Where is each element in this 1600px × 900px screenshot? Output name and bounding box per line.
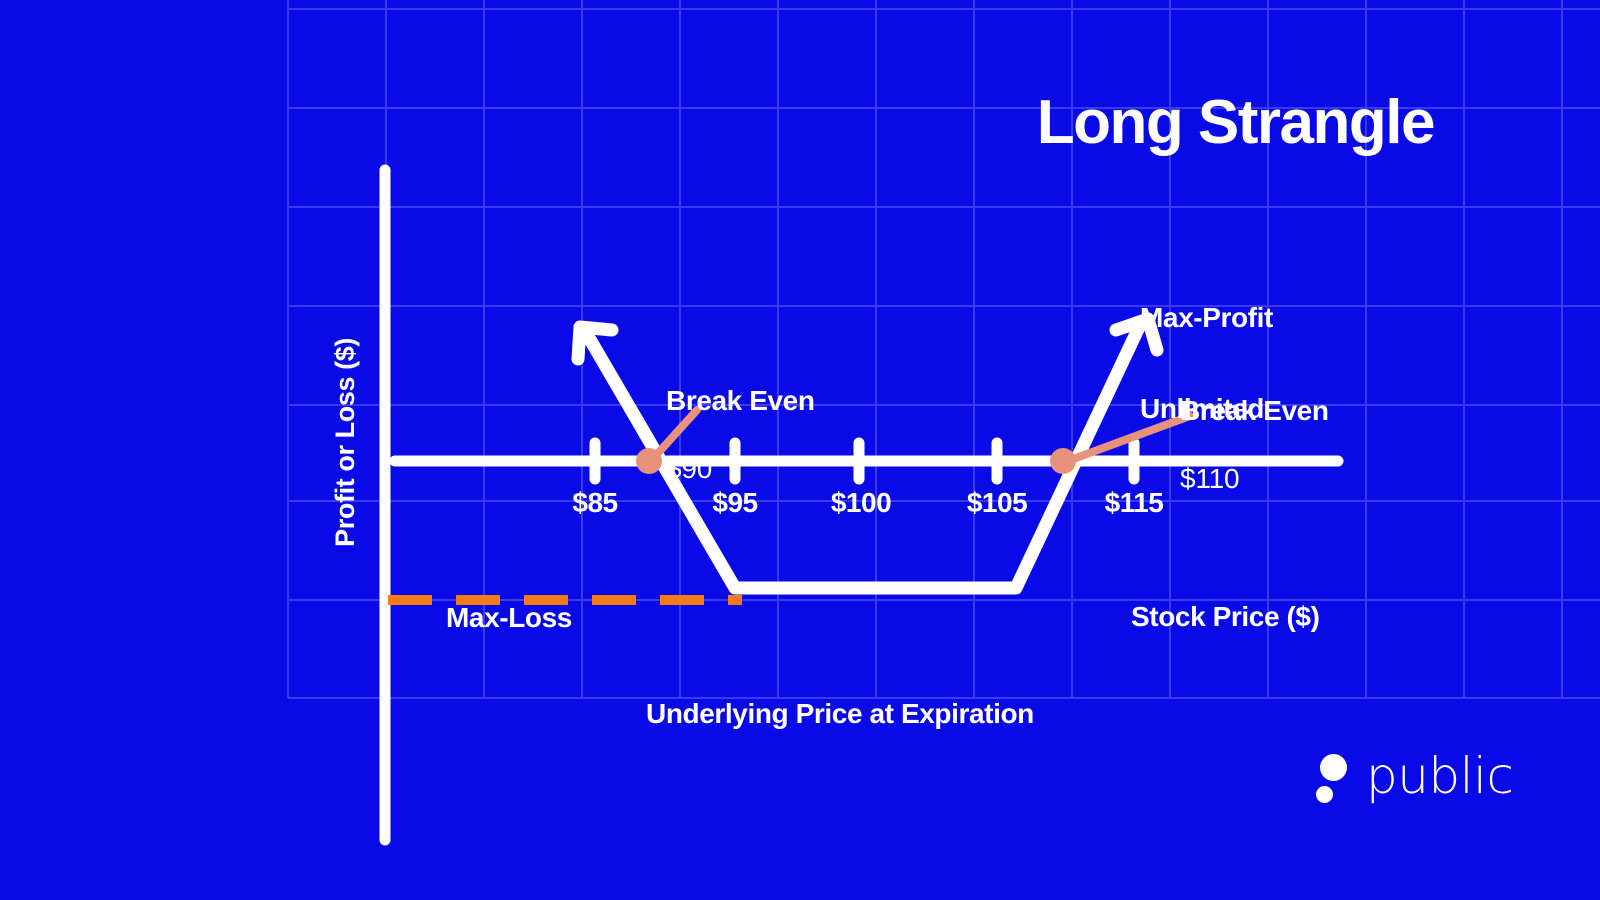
max-profit-line-1: Max-Profit <box>1140 303 1273 333</box>
x-tick-label-115: $115 <box>1105 487 1164 519</box>
break-even-right-annotation: Break Even $110 <box>1180 360 1329 532</box>
x-tick-label-100: $100 <box>831 487 891 519</box>
break-even-right-marker <box>1050 448 1076 474</box>
long-strangle-payoff-diagram: Long Strangle $85 $95 $100 $105 $115 Pro… <box>0 0 1600 900</box>
break-even-right-title: Break Even <box>1180 396 1329 425</box>
logo-dot-small-icon <box>1316 786 1333 803</box>
x-tick-label-105: $105 <box>967 487 1027 519</box>
x-tick-label-85: $85 <box>572 487 617 519</box>
break-even-right-value: $110 <box>1180 461 1329 496</box>
public-logo: public <box>1312 752 1482 812</box>
logo-dot-large-icon <box>1320 754 1347 781</box>
x-axis-label: Stock Price ($) <box>1131 601 1320 633</box>
max-loss-annotation: Max-Loss <box>446 602 572 634</box>
y-axis-label: Profit or Loss ($) <box>330 338 361 547</box>
logo-wordmark: public <box>1366 747 1513 805</box>
break-even-left-title: Break Even <box>666 386 815 415</box>
break-even-left-annotation: Break Even $90 <box>666 350 815 522</box>
break-even-left-marker <box>636 448 662 474</box>
x-axis-caption: Underlying Price at Expiration <box>646 698 1034 730</box>
chart-title: Long Strangle <box>1037 92 1434 154</box>
break-even-left-value: $90 <box>666 451 815 486</box>
